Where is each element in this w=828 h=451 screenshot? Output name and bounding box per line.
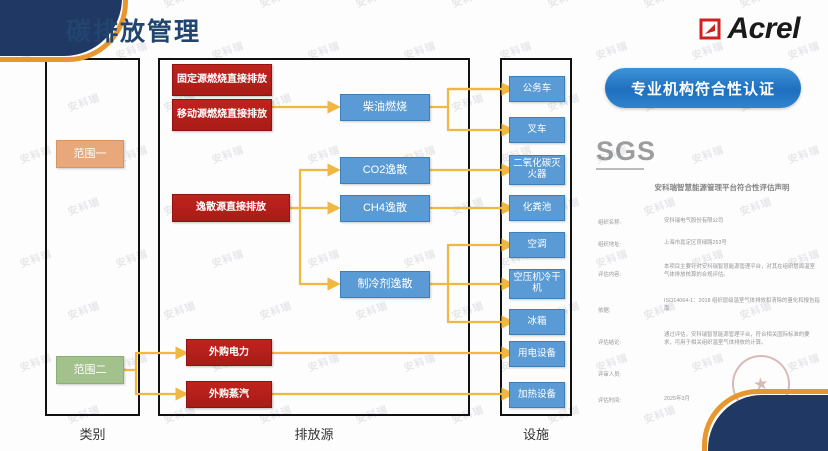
cert-label-1: 组织地址:: [598, 240, 621, 248]
certification-banner: 专业机构符合性认证: [605, 68, 801, 108]
facility-node-air-compressor-dryer[interactable]: 空压机冷干机: [509, 269, 565, 299]
cert-value-4: 通过评估，安科瑞智慧能源管理平台，符合相关国际标准的要求，可用于相关组织温室气体…: [664, 332, 816, 348]
sgs-mark: SGS: [596, 136, 656, 167]
cert-label-6: 评估时间:: [598, 396, 621, 404]
sgs-rule: [596, 168, 644, 170]
certificate-title: 安科瑞智慧能源管理平台符合性评估声明: [622, 182, 822, 193]
slide-canvas: 安科瑞安科瑞安科瑞安科瑞安科瑞安科瑞安科瑞安科瑞安科瑞安科瑞安科瑞安科瑞安科瑞安…: [0, 0, 828, 451]
watermark-text: 安科瑞: [449, 0, 485, 10]
facility-node-official-vehicle[interactable]: 公务车: [509, 76, 565, 102]
watermark-text: 安科瑞: [593, 37, 629, 62]
brand-logo: Acrel: [699, 12, 800, 46]
caption-category: 类别: [45, 424, 140, 443]
cert-value-2: 本项目主要针对安科瑞智慧能源管理平台，对其在组织层面温室气体排放核算的合规评估。: [664, 264, 816, 280]
cert-value-1: 上海市嘉定区育绿路253号: [664, 240, 816, 248]
facility-node-septic-tank[interactable]: 化粪池: [509, 195, 565, 221]
facility-node-refrigerator[interactable]: 冰箱: [509, 309, 565, 335]
mid-node-refrigerant-fugitive[interactable]: 制冷剂逸散: [340, 271, 430, 298]
watermark-text: 安科瑞: [737, 0, 773, 10]
facility-node-heating-equipment[interactable]: 加热设备: [509, 382, 565, 408]
watermark-text: 安科瑞: [353, 0, 389, 10]
watermark-text: 安科瑞: [545, 0, 581, 10]
source-node-mobile-combustion[interactable]: 移动源燃烧直接排放: [172, 99, 272, 131]
category-node-scope2[interactable]: 范围二: [56, 356, 124, 384]
cert-value-0: 安科瑞电气股份有限公司: [664, 218, 816, 226]
acrel-logo-icon: [699, 18, 721, 40]
watermark-text: 安科瑞: [641, 0, 677, 10]
cert-label-3: 依据:: [598, 306, 610, 314]
source-node-fugitive-direct[interactable]: 逸散源直接排放: [172, 194, 290, 222]
caption-facility: 设施: [500, 424, 572, 443]
cert-label-4: 评估结论:: [598, 338, 621, 346]
brand-name: Acrel: [727, 12, 800, 46]
facility-node-co2-extinguisher[interactable]: 二氧化碳灭火器: [509, 155, 565, 185]
facility-node-forklift[interactable]: 叉车: [509, 117, 565, 143]
watermark-text: 安科瑞: [257, 0, 293, 10]
mid-node-co2-fugitive[interactable]: CO2逸散: [340, 157, 430, 184]
source-node-purchased-electricity[interactable]: 外购电力: [186, 339, 272, 366]
sgs-certificate: SGS 安科瑞智慧能源管理平台符合性评估声明 组织名称: 安科瑞电气股份有限公司…: [596, 130, 826, 425]
mid-node-ch4-fugitive[interactable]: CH4逸散: [340, 195, 430, 222]
page-title: 碳排放管理: [66, 12, 201, 48]
facility-node-electrical-equipment[interactable]: 用电设备: [509, 341, 565, 367]
source-node-stationary-combustion[interactable]: 固定源燃烧直接排放: [172, 64, 272, 96]
cert-label-2: 评估内容:: [598, 270, 621, 278]
watermark-text: 安科瑞: [161, 0, 197, 10]
cert-label-5: 评审人员:: [598, 370, 621, 378]
cert-value-3: ISO14064-1：2018 组织层级温室气体排放和清除的量化和报告指南: [664, 298, 822, 314]
source-node-purchased-steam[interactable]: 外购蒸汽: [186, 381, 272, 408]
facility-node-air-conditioner[interactable]: 空调: [509, 232, 565, 258]
mid-node-diesel-combustion[interactable]: 柴油燃烧: [340, 94, 430, 121]
caption-source: 排放源: [158, 424, 470, 443]
cert-label-0: 组织名称:: [598, 218, 621, 226]
category-node-scope1[interactable]: 范围一: [56, 140, 124, 168]
